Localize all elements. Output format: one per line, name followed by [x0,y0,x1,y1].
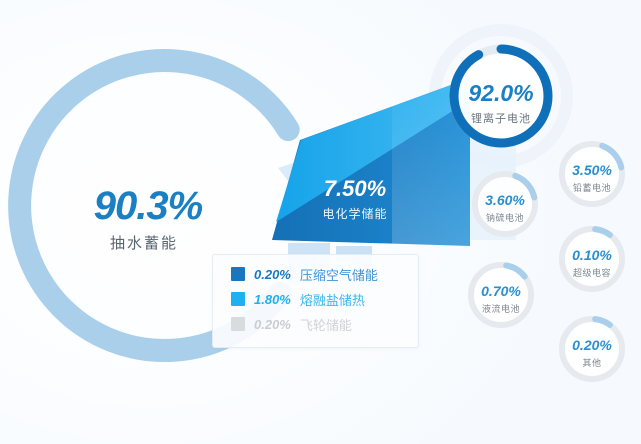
legend-swatch-icon [231,292,245,306]
sodium-sulfur-label: 钠硫电池 [486,211,524,224]
flow-battery-label: 液流电池 [482,302,520,315]
legend-label: 熔融盐储热 [300,290,365,309]
electrochemical-label: 电化学储能 [322,205,387,222]
lithium-ion-label: 锂离子电池 [471,110,531,126]
infographic-canvas: 90.3% 抽水蓄能 7.50% 电化学储能 0.20% 压缩空气储能 1.80… [0,0,641,444]
other-label: 其他 [582,356,601,369]
lead-acid-percent: 3.50% [572,162,612,178]
sodium-sulfur-percent: 3.60% [485,192,525,208]
pumped-storage-label: 抽水蓄能 [110,232,178,253]
legend-percent: 0.20% [254,317,291,332]
electrochemical-percent: 7.50% [324,176,386,202]
lithium-ion-percent: 92.0% [468,80,533,107]
legend-swatch-icon [231,267,245,281]
legend-percent: 1.80% [254,292,291,307]
legend-percent: 0.20% [254,267,291,282]
legend-label: 压缩空气储能 [300,265,378,284]
lead-acid-label: 铅蓄电池 [573,181,611,194]
legend-swatch-icon [231,317,245,331]
supercapacitor-label: 超级电容 [573,266,611,279]
pumped-storage-percent: 90.3% [94,184,202,229]
legend-item-molten-salt[interactable]: 1.80% 熔融盐储热 [231,290,365,308]
flow-battery-percent: 0.70% [481,283,521,299]
other-percent: 0.20% [572,337,612,353]
supercapacitor-percent: 0.10% [572,247,612,263]
legend-item-flywheel[interactable]: 0.20% 飞轮储能 [231,315,352,333]
legend-panel: 0.20% 压缩空气储能 1.80% 熔融盐储热 0.20% 飞轮储能 [212,254,419,348]
legend-item-compressed-air[interactable]: 0.20% 压缩空气储能 [231,265,378,283]
legend-label: 飞轮储能 [300,315,352,334]
